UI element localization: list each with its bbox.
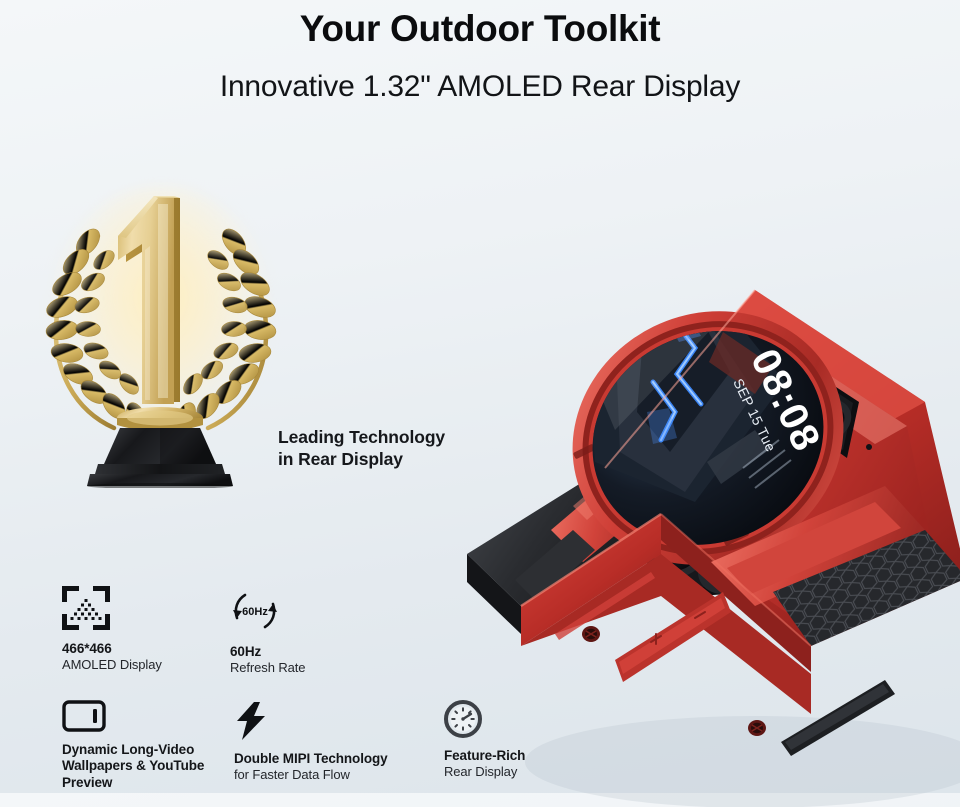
promo-banner: Your Outdoor Toolkit Innovative 1.32" AM… <box>0 0 960 793</box>
feature-video-wallpaper-line3: Preview <box>62 775 204 791</box>
page-subtitle: Innovative 1.32" AMOLED Rear Display <box>0 70 960 104</box>
feature-double-mipi: Double MIPI Technology for Faster Data F… <box>234 702 388 783</box>
feature-resolution: 466*466 AMOLED Display <box>62 586 162 673</box>
page-title: Your Outdoor Toolkit <box>0 8 960 50</box>
feature-refresh-rate-subtitle: Refresh Rate <box>230 660 305 676</box>
refresh-rate-icon-label: 60Hz <box>242 606 268 618</box>
award-trophy <box>36 178 286 488</box>
feature-double-mipi-subtitle: for Faster Data Flow <box>234 767 388 783</box>
rugged-phone-illustration: 08:08 SEP 15 Tue <box>455 262 960 807</box>
feature-resolution-subtitle: AMOLED Display <box>62 657 162 673</box>
feature-refresh-rate: 60Hz 60Hz Refresh Rate <box>230 588 305 676</box>
award-caption-line1: Leading Technology <box>278 426 445 448</box>
feature-double-mipi-title: Double MIPI Technology <box>234 751 388 767</box>
feature-resolution-title: 466*466 <box>62 641 162 657</box>
trophy-base <box>84 406 236 488</box>
award-caption: Leading Technology in Rear Display <box>278 426 445 471</box>
lightning-bolt-icon <box>234 702 268 740</box>
video-wallpaper-icon <box>62 700 106 732</box>
resolution-frame-icon <box>62 586 110 630</box>
feature-video-wallpaper: Dynamic Long-Video Wallpapers & YouTube … <box>62 700 204 791</box>
feature-refresh-rate-title: 60Hz <box>230 644 305 660</box>
feature-video-wallpaper-line2: Wallpapers & YouTube <box>62 758 204 774</box>
feature-video-wallpaper-line1: Dynamic Long-Video <box>62 742 204 758</box>
award-caption-line2: in Rear Display <box>278 448 445 470</box>
device-photo: 08:08 SEP 15 Tue <box>455 262 960 807</box>
refresh-rate-icon: 60Hz <box>230 588 280 634</box>
number-one-figure <box>114 190 196 422</box>
